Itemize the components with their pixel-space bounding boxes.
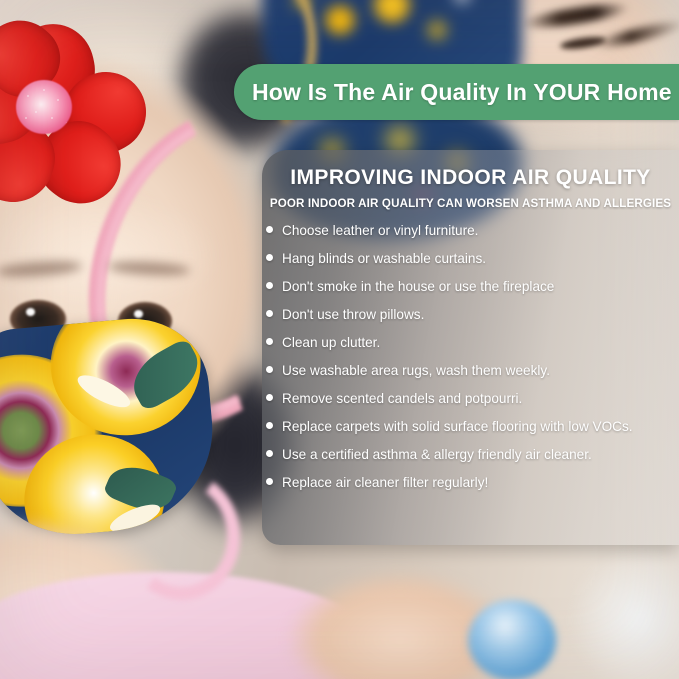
headline-text: How Is The Air Quality In YOUR Home bbox=[252, 79, 672, 106]
tip-item: Replace air cleaner filter regularly! bbox=[266, 476, 669, 504]
bullet-dot-icon bbox=[266, 450, 273, 457]
tip-item: Don't smoke in the house or use the fire… bbox=[266, 280, 669, 308]
bullet-dot-icon bbox=[266, 366, 273, 373]
bullet-dot-icon bbox=[266, 422, 273, 429]
tip-text: Hang blinds or washable curtains. bbox=[282, 252, 486, 266]
bullet-dot-icon bbox=[266, 394, 273, 401]
tip-item: Use a certified asthma & allergy friendl… bbox=[266, 448, 669, 476]
bullet-dot-icon bbox=[266, 254, 273, 261]
bullet-dot-icon bbox=[266, 226, 273, 233]
tip-text: Replace carpets with solid surface floor… bbox=[282, 420, 633, 434]
tip-item: Clean up clutter. bbox=[266, 336, 669, 364]
tip-text: Don't use throw pillows. bbox=[282, 308, 424, 322]
tip-text: Use a certified asthma & allergy friendl… bbox=[282, 448, 592, 462]
tips-panel-header: IMPROVING INDOOR AIR QUALITY POOR INDOOR… bbox=[262, 150, 679, 210]
tip-item: Remove scented candels and potpourri. bbox=[266, 392, 669, 420]
tip-text: Use washable area rugs, wash them weekly… bbox=[282, 364, 550, 378]
tip-text: Replace air cleaner filter regularly! bbox=[282, 476, 488, 490]
tip-text: Don't smoke in the house or use the fire… bbox=[282, 280, 554, 294]
tip-item: Choose leather or vinyl furniture. bbox=[266, 224, 669, 252]
headline-banner: How Is The Air Quality In YOUR Home bbox=[234, 64, 679, 120]
tips-list: Choose leather or vinyl furniture.Hang b… bbox=[262, 224, 679, 504]
tip-item: Use washable area rugs, wash them weekly… bbox=[266, 364, 669, 392]
panel-subtitle: POOR INDOOR AIR QUALITY CAN WORSEN ASTHM… bbox=[262, 197, 679, 210]
panel-title: IMPROVING INDOOR AIR QUALITY bbox=[262, 166, 679, 190]
tip-text: Clean up clutter. bbox=[282, 336, 380, 350]
tip-item: Don't use throw pillows. bbox=[266, 308, 669, 336]
tip-item: Replace carpets with solid surface floor… bbox=[266, 420, 669, 448]
tip-text: Remove scented candels and potpourri. bbox=[282, 392, 522, 406]
bullet-dot-icon bbox=[266, 310, 273, 317]
bullet-dot-icon bbox=[266, 338, 273, 345]
tips-panel: IMPROVING INDOOR AIR QUALITY POOR INDOOR… bbox=[262, 150, 679, 545]
tip-item: Hang blinds or washable curtains. bbox=[266, 252, 669, 280]
tip-text: Choose leather or vinyl furniture. bbox=[282, 224, 478, 238]
bullet-dot-icon bbox=[266, 282, 273, 289]
bullet-dot-icon bbox=[266, 478, 273, 485]
